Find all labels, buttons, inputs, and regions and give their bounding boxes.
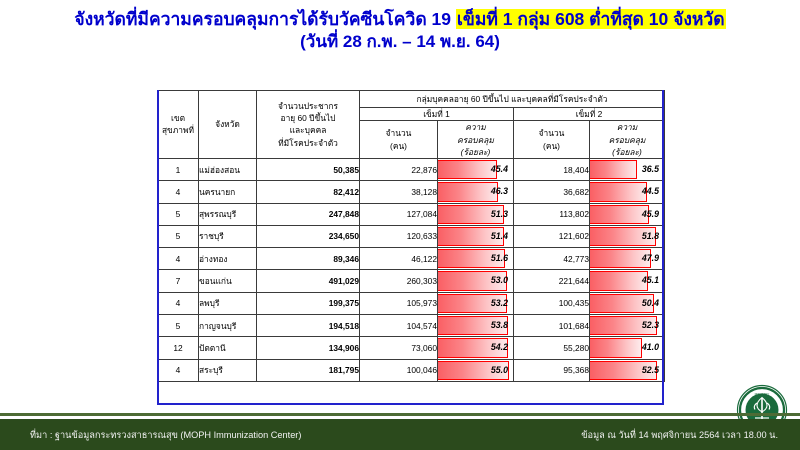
cell-zone: 4 (158, 248, 199, 270)
coverage-table: เขต สุขภาพที่ จังหวัด จำนวนประชากร อายุ … (157, 90, 665, 382)
cell-population: 134,906 (257, 337, 360, 359)
cell-dose1-coverage: 55.0 (438, 359, 514, 381)
title-highlight-text: เข็มที่ 1 กลุ่ม 608 ต่ำที่สุด 10 จังหวัด (456, 9, 726, 29)
cell-zone: 12 (158, 337, 199, 359)
cell-population: 234,650 (257, 225, 360, 247)
cell-dose2-count: 42,773 (514, 248, 590, 270)
cell-dose2-coverage: 52.5 (590, 359, 665, 381)
col-header-dose2-coverage: ความ ครอบคลุม (ร้อยละ) (590, 121, 665, 159)
col-header-dose1-coverage: ความ ครอบคลุม (ร้อยละ) (438, 121, 514, 159)
cell-zone: 1 (158, 158, 199, 180)
cell-dose1-count: 46,122 (360, 248, 438, 270)
cell-dose2-coverage: 51.8 (590, 225, 665, 247)
cell-dose2-coverage: 52.3 (590, 315, 665, 337)
col-header-population: จำนวนประชากร อายุ 60 ปีขึ้นไป และบุคคล ท… (257, 91, 360, 159)
cell-province: ราชบุรี (199, 225, 257, 247)
cell-zone: 4 (158, 292, 199, 314)
cell-zone: 5 (158, 315, 199, 337)
cell-dose1-count: 105,973 (360, 292, 438, 314)
col-header-dose2-coverage-line1: ความ (617, 122, 638, 132)
col-header-dose2-count-line2: (คน) (543, 141, 560, 151)
cell-province: นครนายก (199, 181, 257, 203)
table-body: 1แม่ฮ่องสอน50,38522,87645.418,40436.54นค… (158, 158, 665, 381)
coverage-value: 51.8 (590, 226, 664, 247)
col-header-zone: เขต สุขภาพที่ (158, 91, 199, 159)
coverage-value: 50.4 (590, 293, 664, 314)
coverage-value: 53.2 (438, 293, 513, 314)
cell-zone: 4 (158, 359, 199, 381)
cell-province: ขอนแก่น (199, 270, 257, 292)
cell-dose2-coverage: 44.5 (590, 181, 665, 203)
cell-dose1-count: 73,060 (360, 337, 438, 359)
slide-canvas: จังหวัดที่มีความครอบคลุมการได้รับวัคซีนโ… (0, 0, 800, 450)
footer-date-text: ข้อมูล ณ วันที่ 14 พฤศจิกายน 2564 เวลา 1… (581, 428, 778, 443)
coverage-value: 44.5 (590, 181, 664, 202)
cell-dose2-coverage: 50.4 (590, 292, 665, 314)
page-title: จังหวัดที่มีความครอบคลุมการได้รับวัคซีนโ… (0, 8, 800, 54)
col-header-dose1-coverage-line1: ความ (465, 122, 486, 132)
table-row: 1แม่ฮ่องสอน50,38522,87645.418,40436.5 (158, 158, 665, 180)
cell-population: 199,375 (257, 292, 360, 314)
cell-population: 247,848 (257, 203, 360, 225)
table-row: 7ขอนแก่น491,029260,30353.0221,64445.1 (158, 270, 665, 292)
col-header-dose2-count: จำนวน (คน) (514, 121, 590, 159)
title-line-1: จังหวัดที่มีความครอบคลุมการได้รับวัคซีนโ… (0, 8, 800, 31)
cell-province: ปัตตานี (199, 337, 257, 359)
cell-dose2-coverage: 36.5 (590, 158, 665, 180)
coverage-value: 55.0 (438, 360, 513, 381)
cell-population: 181,795 (257, 359, 360, 381)
col-header-province: จังหวัด (199, 91, 257, 159)
table-right-outline (662, 90, 664, 403)
coverage-value: 53.0 (438, 270, 513, 291)
coverage-value: 36.5 (590, 159, 664, 180)
cell-dose2-count: 113,802 (514, 203, 590, 225)
col-header-population-line4: ที่มีโรคประจำตัว (278, 138, 338, 148)
header-row-1: เขต สุขภาพที่ จังหวัด จำนวนประชากร อายุ … (158, 91, 665, 108)
cell-dose2-coverage: 47.9 (590, 248, 665, 270)
cell-dose2-count: 18,404 (514, 158, 590, 180)
col-header-dose1: เข็มที่ 1 (360, 108, 514, 121)
col-header-dose1-coverage-line3: (ร้อยละ) (461, 147, 491, 157)
cell-dose1-count: 22,876 (360, 158, 438, 180)
cell-dose2-count: 36,682 (514, 181, 590, 203)
cell-dose1-count: 127,084 (360, 203, 438, 225)
table-row: 5สุพรรณบุรี247,848127,08451.3113,80245.9 (158, 203, 665, 225)
cell-dose1-coverage: 51.4 (438, 225, 514, 247)
footer-source-text: ที่มา : ฐานข้อมูลกระทรวงสาธารณสุข (MOPH … (30, 428, 301, 443)
table-bottom-outline (157, 403, 664, 405)
cell-dose1-coverage: 45.4 (438, 158, 514, 180)
coverage-value: 54.2 (438, 337, 513, 358)
cell-province: ลพบุรี (199, 292, 257, 314)
svg-text:MINISTRY: MINISTRY (755, 392, 770, 396)
table-row: 4ลพบุรี199,375105,97353.2100,43550.4 (158, 292, 665, 314)
col-header-population-line2: อายุ 60 ปีขึ้นไป (281, 113, 336, 123)
cell-zone: 7 (158, 270, 199, 292)
cell-population: 194,518 (257, 315, 360, 337)
table-row: 4นครนายก82,41238,12846.336,68244.5 (158, 181, 665, 203)
cell-province: กาญจนบุรี (199, 315, 257, 337)
col-header-dose1-count-line1: จำนวน (386, 128, 412, 138)
cell-dose2-coverage: 41.0 (590, 337, 665, 359)
cell-dose2-count: 95,368 (514, 359, 590, 381)
coverage-value: 51.6 (438, 248, 513, 269)
col-header-zone-line2: สุขภาพที่ (162, 125, 194, 135)
coverage-value: 45.4 (438, 159, 513, 180)
table-row: 5ราชบุรี234,650120,63351.4121,60251.8 (158, 225, 665, 247)
col-header-dose2: เข็มที่ 2 (514, 108, 665, 121)
footer-divider (0, 413, 800, 416)
table-row: 5กาญจนบุรี194,518104,57453.8101,68452.3 (158, 315, 665, 337)
cell-dose1-coverage: 54.2 (438, 337, 514, 359)
cell-province: สุพรรณบุรี (199, 203, 257, 225)
coverage-value: 47.9 (590, 248, 664, 269)
cell-population: 89,346 (257, 248, 360, 270)
cell-dose1-coverage: 46.3 (438, 181, 514, 203)
coverage-value: 52.5 (590, 360, 664, 381)
title-line-2: (วันที่ 28 ก.พ. – 14 พ.ย. 64) (0, 31, 800, 54)
cell-dose2-count: 221,644 (514, 270, 590, 292)
cell-dose1-count: 260,303 (360, 270, 438, 292)
cell-dose2-count: 55,280 (514, 337, 590, 359)
cell-dose2-coverage: 45.9 (590, 203, 665, 225)
coverage-value: 45.9 (590, 204, 664, 225)
cell-dose1-coverage: 51.3 (438, 203, 514, 225)
cell-population: 491,029 (257, 270, 360, 292)
cell-dose2-count: 121,602 (514, 225, 590, 247)
cell-zone: 4 (158, 181, 199, 203)
col-header-dose2-coverage-line2: ครอบคลุม (609, 135, 646, 145)
cell-province: อ่างทอง (199, 248, 257, 270)
cell-dose1-coverage: 53.8 (438, 315, 514, 337)
table-row: 4อ่างทอง89,34646,12251.642,77347.9 (158, 248, 665, 270)
coverage-value: 41.0 (590, 337, 664, 358)
col-header-dose1-coverage-line2: ครอบคลุม (457, 135, 494, 145)
cell-dose2-count: 100,435 (514, 292, 590, 314)
coverage-value: 52.3 (590, 315, 664, 336)
table-left-outline (157, 90, 159, 403)
col-header-dose2-count-line1: จำนวน (539, 128, 565, 138)
col-header-dose1-count-line2: (คน) (390, 141, 407, 151)
cell-dose1-coverage: 53.0 (438, 270, 514, 292)
cell-province: สระบุรี (199, 359, 257, 381)
cell-dose1-coverage: 53.2 (438, 292, 514, 314)
col-header-dose2-coverage-line3: (ร้อยละ) (612, 147, 642, 157)
cell-population: 50,385 (257, 158, 360, 180)
cell-dose1-count: 38,128 (360, 181, 438, 203)
col-header-population-line3: และบุคคล (290, 125, 327, 135)
table-row: 4สระบุรี181,795100,04655.095,36852.5 (158, 359, 665, 381)
cell-dose2-coverage: 45.1 (590, 270, 665, 292)
coverage-value: 51.4 (438, 226, 513, 247)
cell-province: แม่ฮ่องสอน (199, 158, 257, 180)
coverage-table-container: เขต สุขภาพที่ จังหวัด จำนวนประชากร อายุ … (157, 90, 664, 382)
coverage-value: 51.3 (438, 204, 513, 225)
table-row: 12ปัตตานี134,90673,06054.255,28041.0 (158, 337, 665, 359)
coverage-value: 46.3 (438, 181, 513, 202)
coverage-value: 45.1 (590, 270, 664, 291)
cell-dose2-count: 101,684 (514, 315, 590, 337)
cell-population: 82,412 (257, 181, 360, 203)
col-header-population-line1: จำนวนประชากร (278, 101, 338, 111)
cell-dose1-coverage: 51.6 (438, 248, 514, 270)
cell-dose1-count: 120,633 (360, 225, 438, 247)
cell-dose1-count: 100,046 (360, 359, 438, 381)
col-header-zone-line1: เขต (171, 113, 185, 123)
cell-zone: 5 (158, 203, 199, 225)
col-header-dose1-count: จำนวน (คน) (360, 121, 438, 159)
table-head: เขต สุขภาพที่ จังหวัด จำนวนประชากร อายุ … (158, 91, 665, 159)
cell-dose1-count: 104,574 (360, 315, 438, 337)
title-plain-text: จังหวัดที่มีความครอบคลุมการได้รับวัคซีนโ… (74, 9, 456, 29)
coverage-value: 53.8 (438, 315, 513, 336)
col-header-group: กลุ่มบุคคลอายุ 60 ปีขึ้นไป และบุคคลที่มี… (360, 91, 665, 108)
cell-zone: 5 (158, 225, 199, 247)
